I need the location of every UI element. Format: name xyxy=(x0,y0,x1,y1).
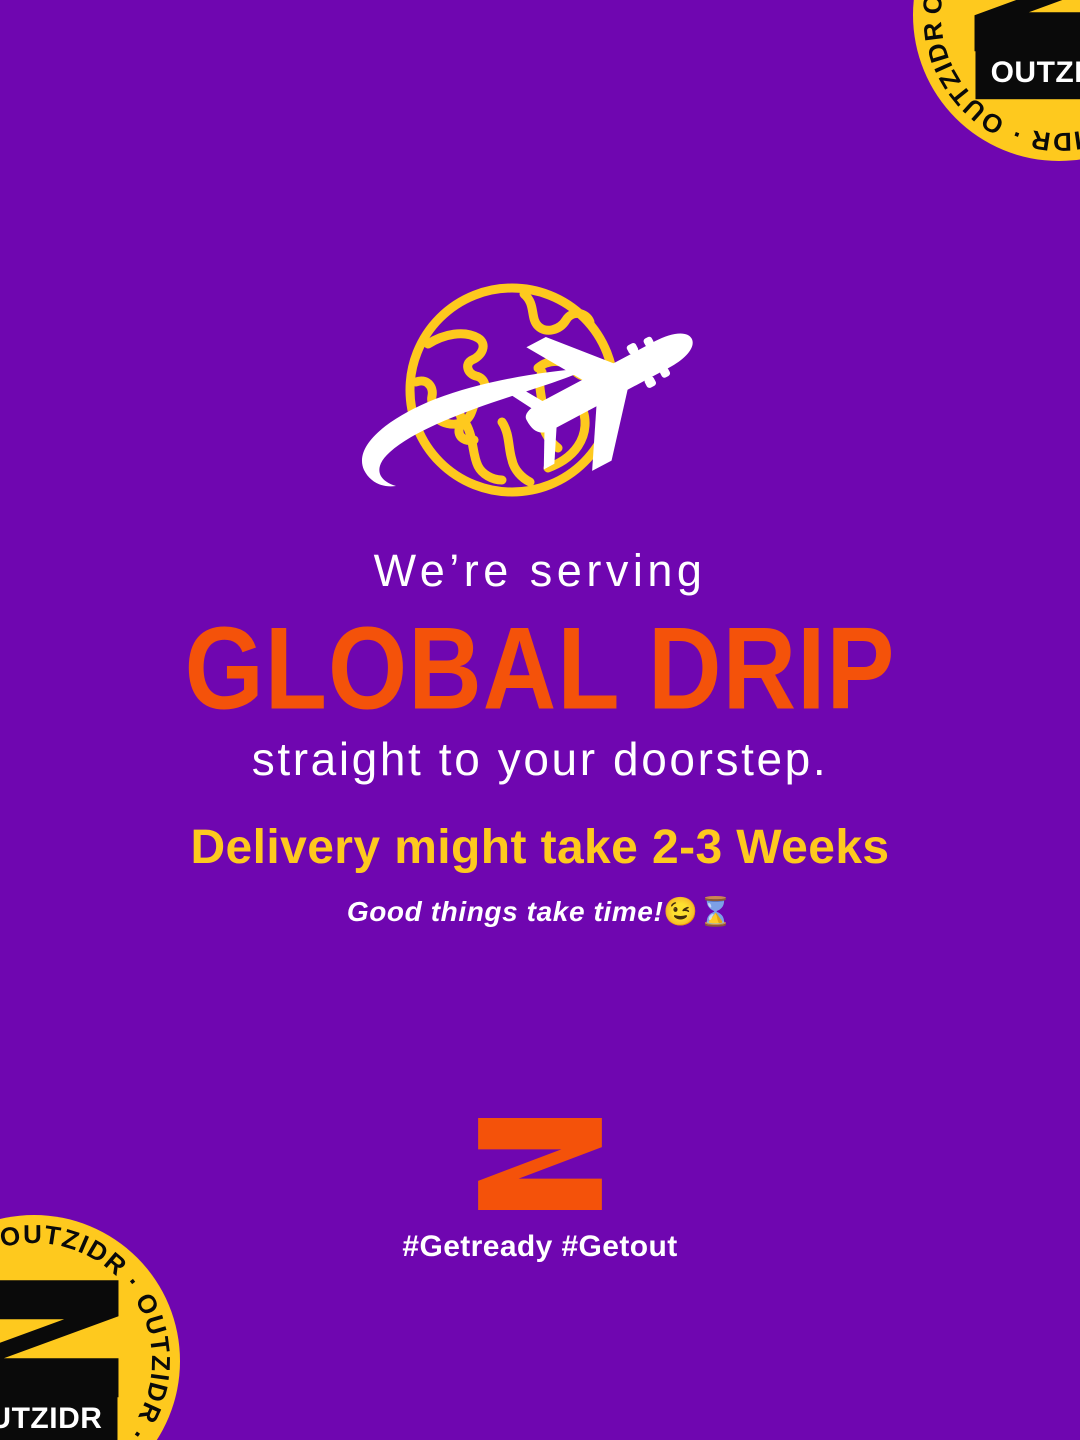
delivery-headline: Delivery might take 2-3 Weeks xyxy=(0,820,1080,875)
badge-wordmark-top-right: OUTZIDR xyxy=(976,49,1080,99)
hashtags-text: #Getready #Getout xyxy=(402,1232,677,1262)
delivery-subnote-text: Good things take time! xyxy=(347,896,664,927)
delivery-subnote: Good things take time!😉⌛ xyxy=(0,895,1080,929)
globe-airplane-icon xyxy=(352,272,728,512)
wink-face-icon: 😉 xyxy=(663,896,698,927)
z-logo-icon xyxy=(968,0,1080,54)
badge-core-bottom-left: OUTZIDR xyxy=(0,1277,125,1440)
hourglass-icon: ⌛ xyxy=(698,896,733,927)
brand-badge-top-right: OUTZIDR · OUTZIDR · OUTZIDR · OUTZIDR · … xyxy=(913,0,1080,161)
page-title: GLOBAL DRIP xyxy=(0,611,1080,728)
delivery-notice: Delivery might take 2-3 Weeks Good thing… xyxy=(0,820,1080,929)
poster-canvas: OUTZIDR · OUTZIDR · OUTZIDR · OUTZIDR · … xyxy=(0,0,1080,1440)
eyebrow-text: We’re serving xyxy=(0,545,1080,597)
z-logo-icon-footer xyxy=(476,1118,604,1210)
headline-block: We’re serving GLOBAL DRIP straight to yo… xyxy=(0,545,1080,786)
z-logo-icon-badge xyxy=(0,1277,125,1400)
badge-core-top-right: OUTZIDR xyxy=(968,0,1080,99)
brand-badge-bottom-left: OUTZIDR · OUTZIDR · OUTZIDR · OUTZIDR · … xyxy=(0,1215,180,1440)
badge-wordmark-bottom-left: OUTZIDR xyxy=(0,1395,117,1440)
subline-text: straight to your doorstep. xyxy=(0,733,1080,786)
